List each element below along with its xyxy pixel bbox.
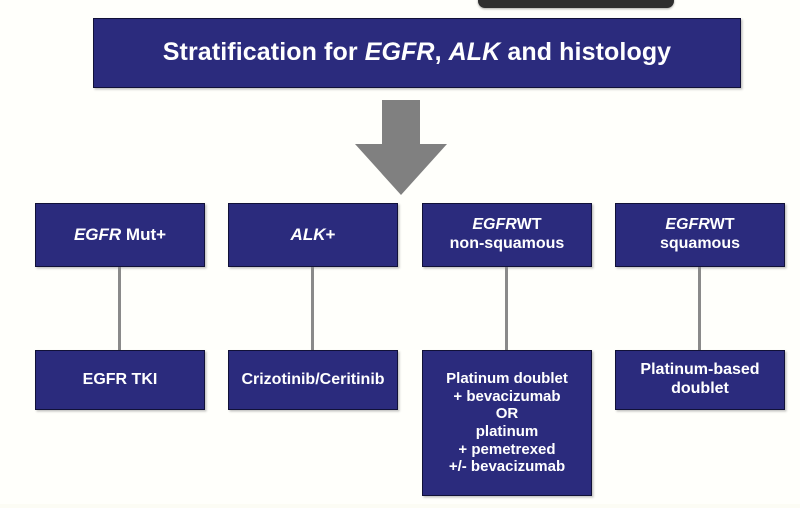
gene-status: +	[326, 225, 336, 244]
stratification-box-egfr-wt-non-squamous: EGFRWTnon-squamous	[422, 203, 592, 267]
treatment-box-egfr-mut: EGFR TKI	[35, 350, 205, 410]
histology-label: non-squamous	[450, 235, 565, 252]
page-title: Stratification for EGFR, ALK and histolo…	[163, 38, 671, 68]
connector-line-alk-positive	[311, 267, 314, 351]
stratification-box-alk-positive: ALK+	[228, 203, 398, 267]
stratification-label: EGFRWTsquamous	[660, 216, 740, 254]
treatment-label: Platinum doublet + bevacizumab OR platin…	[442, 370, 572, 476]
gene-status: WT	[710, 216, 735, 233]
treatment-line: Platinum doublet	[446, 370, 568, 388]
stratification-label: ALK+	[291, 225, 336, 245]
treatment-line: + pemetrexed	[446, 441, 568, 459]
treatment-label: Crizotinib/Ceritinib	[241, 371, 384, 390]
gene-name-italic: EGFR	[472, 216, 516, 233]
gene-name-italic: ALK	[291, 225, 326, 244]
bottom-edge-strip	[0, 504, 800, 508]
gene-name-italic: EGFR	[74, 225, 121, 244]
top-dark-tab	[478, 0, 674, 8]
stratification-box-egfr-mut: EGFR Mut+	[35, 203, 205, 267]
treatment-box-egfr-wt-squamous: Platinum-baseddoublet	[615, 350, 785, 410]
title-gene-egfr: EGFR	[365, 38, 435, 66]
treatment-line: Platinum-based	[640, 361, 759, 378]
treatment-line: + bevacizumab	[446, 388, 568, 406]
title-gene-alk: ALK	[449, 38, 501, 66]
flowchart-canvas: Stratification for EGFR, ALK and histolo…	[0, 0, 800, 508]
treatment-label: Platinum-baseddoublet	[640, 361, 759, 399]
treatment-line: platinum	[446, 423, 568, 441]
treatment-line: +/- bevacizumab	[446, 458, 568, 476]
connector-line-egfr-mut	[118, 267, 121, 351]
gene-name-italic: EGFR	[665, 216, 709, 233]
title-suffix: and histology	[500, 38, 671, 66]
treatment-label: EGFR TKI	[83, 371, 158, 390]
title-prefix: Stratification for	[163, 38, 365, 66]
gene-status: WT	[517, 216, 542, 233]
connector-line-egfr-wt-squamous	[698, 267, 701, 351]
stratification-label: EGFR Mut+	[74, 225, 166, 245]
histology-label: squamous	[660, 235, 740, 252]
treatment-box-egfr-wt-non-squamous: Platinum doublet + bevacizumab OR platin…	[422, 350, 592, 496]
stratification-label: EGFRWTnon-squamous	[450, 216, 565, 254]
down-block-arrow	[355, 100, 447, 195]
stratification-box-egfr-wt-squamous: EGFRWTsquamous	[615, 203, 785, 267]
treatment-line: doublet	[671, 380, 729, 397]
treatment-box-alk-positive: Crizotinib/Ceritinib	[228, 350, 398, 410]
title-box: Stratification for EGFR, ALK and histolo…	[93, 18, 741, 88]
treatment-line: OR	[446, 405, 568, 423]
connector-line-egfr-wt-non-squamous	[505, 267, 508, 351]
gene-status: Mut+	[121, 225, 166, 244]
title-separator: ,	[435, 38, 449, 66]
